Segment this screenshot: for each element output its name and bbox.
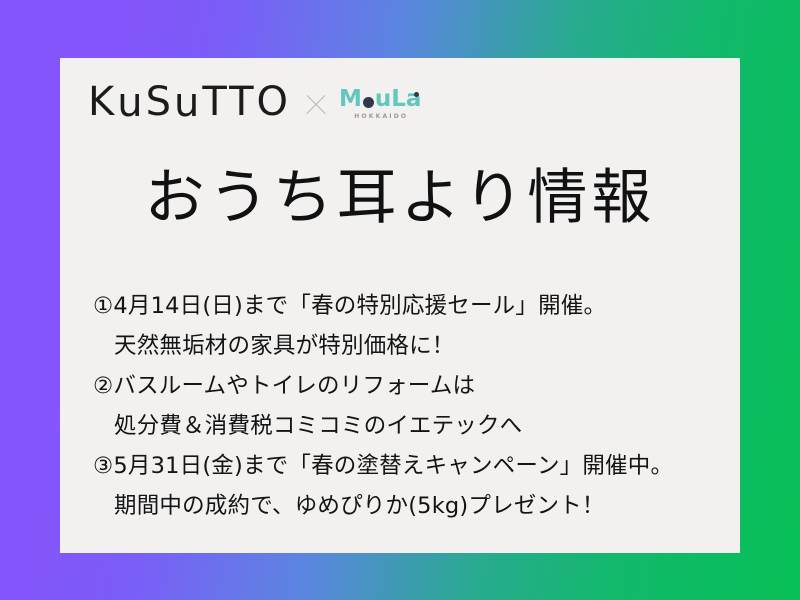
logo-row: KuSuTTO MuLa HOKKAIDO	[88, 76, 421, 128]
moula-subtitle: HOKKAIDO	[352, 113, 408, 121]
list-item: 期間中の成約で、ゆめぴりか(5kg)プレゼント！	[93, 486, 720, 526]
kusutto-logo: KuSuTTO	[88, 82, 291, 122]
kusutto-letter-k: K	[88, 82, 117, 122]
kusutto-letter-u1: u	[117, 83, 145, 123]
moula-logo: MuLa HOKKAIDO	[339, 88, 421, 121]
list-item: 処分費＆消費税コミコミのイエテックへ	[93, 406, 720, 446]
moula-letter-l: L	[391, 88, 406, 111]
list-item: 天然無垢材の家具が特別価格に！	[93, 326, 720, 366]
list-item: ②バスルームやトイレのリフォームは	[93, 366, 720, 406]
moula-wordmark: MuLa	[339, 88, 421, 111]
poster-canvas: KuSuTTO MuLa HOKKAIDO おうち耳より情報 ①4月14日(日)…	[0, 0, 800, 600]
content-card: KuSuTTO MuLa HOKKAIDO おうち耳より情報 ①4月14日(日)…	[60, 58, 740, 553]
list-item: ③5月31日(金)まで「春の塗替えキャンペーン」開催中。	[93, 446, 720, 486]
announcement-list: ①4月14日(日)まで「春の特別応援セール」開催。 天然無垢材の家具が特別価格に…	[93, 286, 720, 526]
moula-letter-u: u	[375, 88, 391, 111]
moula-letter-a: a	[406, 88, 422, 111]
kusutto-letter-u2: u	[174, 83, 202, 123]
list-item: ①4月14日(日)まで「春の特別応援セール」開催。	[93, 286, 720, 326]
moula-letter-m: M	[339, 88, 362, 111]
kusutto-letter-s: S	[146, 82, 174, 122]
moula-letter-o-dot-icon	[363, 97, 374, 108]
cross-separator-icon	[303, 91, 329, 117]
kusutto-letters-tto: TTO	[202, 82, 291, 122]
page-title: おうち耳より情報	[60, 163, 740, 233]
